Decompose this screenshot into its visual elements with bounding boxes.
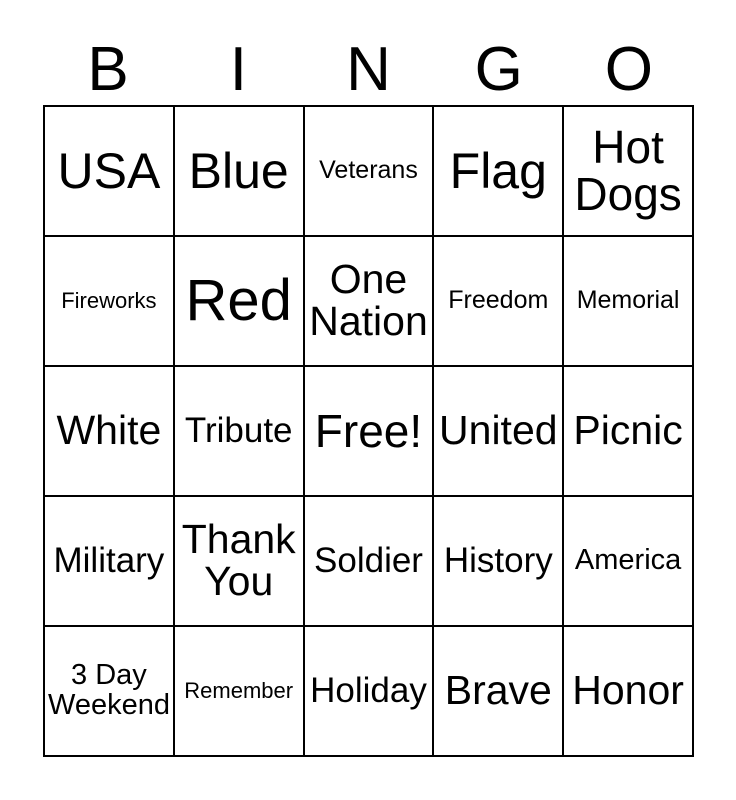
bingo-grid: USA Blue Veterans Flag Hot Dogs Firework…	[43, 105, 694, 757]
bingo-cell-r4c2[interactable]: Thank You	[175, 497, 305, 627]
bingo-cell-r5c5[interactable]: Honor	[564, 627, 694, 757]
bingo-cell-r2c2[interactable]: Red	[175, 237, 305, 367]
bingo-cell-label: Red	[178, 271, 300, 330]
bingo-cell-r2c5[interactable]: Memorial	[564, 237, 694, 367]
bingo-header-letter-i: I	[173, 26, 303, 105]
bingo-cell-r4c1[interactable]: Military	[45, 497, 175, 627]
bingo-cell-label: Honor	[567, 670, 689, 712]
bingo-cell-label: Free!	[308, 408, 430, 455]
bingo-cell-label: Fireworks	[48, 290, 170, 312]
bingo-cell-r1c4[interactable]: Flag	[434, 107, 564, 237]
bingo-cell-label: Thank You	[178, 519, 300, 603]
bingo-cell-label: Remember	[178, 680, 300, 702]
bingo-cell-label: 3 Day Weekend	[48, 661, 170, 720]
bingo-cell-label: USA	[48, 146, 170, 197]
bingo-cell-r2c3[interactable]: One Nation	[305, 237, 435, 367]
bingo-cell-label: Memorial	[567, 288, 689, 314]
bingo-header-letter-n: N	[303, 26, 433, 105]
bingo-cell-r1c2[interactable]: Blue	[175, 107, 305, 237]
bingo-cell-r4c3[interactable]: Soldier	[305, 497, 435, 627]
bingo-cell-label: Blue	[178, 146, 300, 197]
bingo-header-letter-b: B	[43, 26, 173, 105]
bingo-header-letter-o: O	[564, 26, 694, 105]
bingo-cell-label: Soldier	[308, 543, 430, 579]
bingo-cell-label: Tribute	[178, 413, 300, 449]
bingo-cell-r1c5[interactable]: Hot Dogs	[564, 107, 694, 237]
bingo-cell-label: One Nation	[308, 259, 430, 343]
bingo-cell-r5c2[interactable]: Remember	[175, 627, 305, 757]
bingo-cell-r4c4[interactable]: History	[434, 497, 564, 627]
bingo-cell-r3c4[interactable]: United	[434, 367, 564, 497]
bingo-card: B I N G O USA Blue Veterans Flag Hot Dog…	[0, 0, 736, 800]
bingo-cell-label: History	[437, 543, 559, 579]
bingo-cell-label: Brave	[437, 670, 559, 712]
bingo-cell-r3c5[interactable]: Picnic	[564, 367, 694, 497]
bingo-cell-label: Military	[48, 543, 170, 579]
bingo-header-letter-g: G	[434, 26, 564, 105]
bingo-cell-r1c3[interactable]: Veterans	[305, 107, 435, 237]
bingo-cell-r1c1[interactable]: USA	[45, 107, 175, 237]
bingo-cell-label: Freedom	[437, 288, 559, 314]
bingo-cell-label: Picnic	[567, 410, 689, 452]
bingo-cell-r4c5[interactable]: America	[564, 497, 694, 627]
bingo-cell-r3c2[interactable]: Tribute	[175, 367, 305, 497]
bingo-cell-r5c4[interactable]: Brave	[434, 627, 564, 757]
bingo-cell-label: United	[437, 410, 559, 452]
bingo-cell-r5c3[interactable]: Holiday	[305, 627, 435, 757]
bingo-cell-label: Veterans	[308, 158, 430, 184]
bingo-header-row: B I N G O	[43, 26, 694, 105]
bingo-cell-label: White	[48, 410, 170, 452]
bingo-cell-label: Hot Dogs	[567, 124, 689, 218]
bingo-cell-label: Holiday	[308, 673, 430, 709]
bingo-cell-r2c1[interactable]: Fireworks	[45, 237, 175, 367]
bingo-cell-label: America	[567, 546, 689, 576]
bingo-cell-r3c1[interactable]: White	[45, 367, 175, 497]
bingo-cell-r2c4[interactable]: Freedom	[434, 237, 564, 367]
bingo-cell-free-space[interactable]: Free!	[305, 367, 435, 497]
bingo-cell-label: Flag	[437, 146, 559, 197]
bingo-cell-r5c1[interactable]: 3 Day Weekend	[45, 627, 175, 757]
